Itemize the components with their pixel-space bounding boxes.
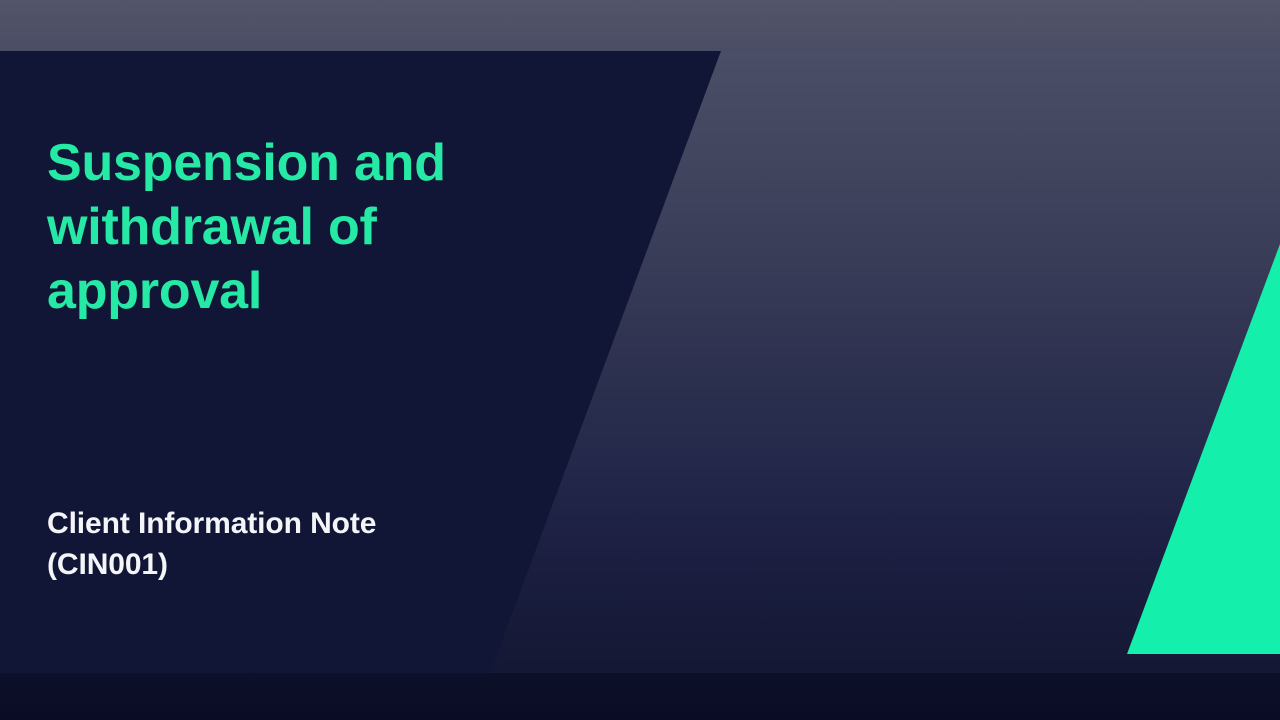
bottom-dark-band bbox=[0, 673, 1280, 720]
slide-title: Suspension and withdrawal of approval bbox=[47, 131, 487, 323]
top-slate-band bbox=[0, 0, 1280, 51]
slide-content: Suspension and withdrawal of approval Cl… bbox=[47, 51, 517, 673]
slide-subtitle: Client Information Note (CIN001) bbox=[47, 503, 477, 585]
title-slide: Suspension and withdrawal of approval Cl… bbox=[0, 0, 1280, 720]
